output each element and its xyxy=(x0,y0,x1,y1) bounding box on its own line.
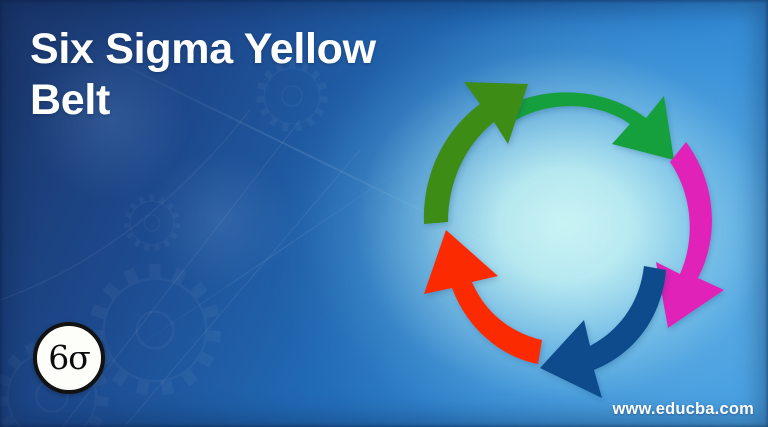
cycle-arrow-navy-bottom xyxy=(540,266,666,398)
cycle-arrow-red-bottomleft xyxy=(424,230,542,364)
six-sigma-badge-label: 6σ xyxy=(48,341,90,374)
banner-image: Six Sigma Yellow Belt 6σ www.educba.com xyxy=(0,0,768,427)
cycle-arrow-magenta-right xyxy=(656,142,724,328)
banner-title-line-1: Six Sigma Yellow xyxy=(30,24,550,75)
site-watermark: www.educba.com xyxy=(612,400,754,419)
five-arrow-cycle-diagram xyxy=(398,78,744,408)
six-sigma-badge-icon: 6σ xyxy=(33,322,105,394)
banner-title: Six Sigma Yellow Belt xyxy=(30,24,550,125)
banner-title-line-2: Belt xyxy=(30,75,550,126)
